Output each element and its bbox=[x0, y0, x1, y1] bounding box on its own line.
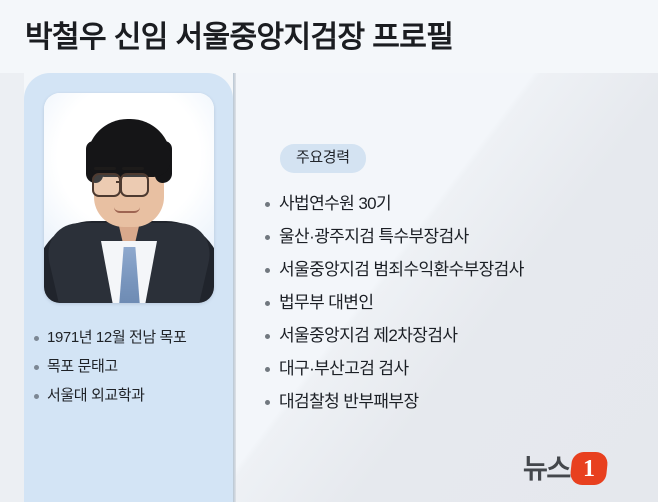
profile-item-label: 서울대 외교학과 bbox=[47, 386, 145, 406]
portrait-mouth bbox=[114, 207, 140, 213]
career-section-badge: 주요경력 bbox=[280, 144, 366, 173]
logo-mark-icon: 1 bbox=[569, 452, 608, 485]
infographic-card: 박철우 신임 서울중앙지검장 프로필 1971년 12월 전남 목포 목포 문태… bbox=[0, 0, 658, 502]
profile-item-label: 목포 문태고 bbox=[47, 357, 118, 377]
bullet-icon bbox=[34, 365, 39, 370]
bullet-icon bbox=[265, 301, 270, 306]
bullet-icon bbox=[265, 334, 270, 339]
news1-logo: 뉴스 1 bbox=[523, 452, 607, 485]
career-item-label: 서울중앙지검 제2차장검사 bbox=[279, 324, 457, 348]
header-bar: 박철우 신임 서울중앙지검장 프로필 bbox=[0, 0, 658, 73]
list-item: 법무부 대변인 bbox=[265, 291, 645, 324]
portrait-eyebrow-left bbox=[94, 167, 116, 170]
bullet-icon bbox=[265, 400, 270, 405]
list-item: 목포 문태고 bbox=[34, 357, 229, 377]
list-item: 서울중앙지검 제2차장검사 bbox=[265, 324, 645, 357]
portrait-photo bbox=[44, 93, 214, 303]
list-item: 대구·부산고검 검사 bbox=[265, 357, 645, 390]
career-list: 사법연수원 30기 울산·광주지검 특수부장검사 서울중앙지검 범죄수익환수부장… bbox=[265, 192, 645, 423]
bullet-icon bbox=[265, 202, 270, 207]
profile-list: 1971년 12월 전남 목포 목포 문태고 서울대 외교학과 bbox=[34, 328, 229, 415]
left-margin-strip bbox=[0, 0, 24, 502]
page-title: 박철우 신임 서울중앙지검장 프로필 bbox=[25, 17, 453, 59]
career-item-label: 대구·부산고검 검사 bbox=[279, 357, 409, 381]
bullet-icon bbox=[265, 268, 270, 273]
list-item: 울산·광주지검 특수부장검사 bbox=[265, 225, 645, 258]
glasses-left-lens-icon bbox=[92, 173, 121, 197]
list-item: 대검찰청 반부패부장 bbox=[265, 390, 645, 423]
profile-item-label: 1971년 12월 전남 목포 bbox=[47, 328, 186, 348]
bullet-icon bbox=[34, 336, 39, 341]
panel-divider bbox=[233, 73, 236, 502]
career-item-label: 대검찰청 반부패부장 bbox=[279, 390, 418, 414]
career-item-label: 법무부 대변인 bbox=[279, 291, 373, 315]
portrait-eyebrow-right bbox=[122, 167, 144, 170]
bullet-icon bbox=[265, 367, 270, 372]
glasses-right-lens-icon bbox=[120, 173, 149, 197]
bullet-icon bbox=[34, 394, 39, 399]
list-item: 서울대 외교학과 bbox=[34, 386, 229, 406]
logo-wordmark: 뉴스 bbox=[523, 454, 570, 484]
career-item-label: 울산·광주지검 특수부장검사 bbox=[279, 225, 469, 249]
list-item: 서울중앙지검 범죄수익환수부장검사 bbox=[265, 258, 645, 291]
bullet-icon bbox=[265, 235, 270, 240]
career-item-label: 사법연수원 30기 bbox=[279, 192, 391, 216]
list-item: 1971년 12월 전남 목포 bbox=[34, 328, 229, 348]
list-item: 사법연수원 30기 bbox=[265, 192, 645, 225]
logo-mark-numeral: 1 bbox=[571, 457, 607, 481]
glasses-bridge-icon bbox=[116, 181, 122, 183]
career-item-label: 서울중앙지검 범죄수익환수부장검사 bbox=[279, 258, 524, 282]
